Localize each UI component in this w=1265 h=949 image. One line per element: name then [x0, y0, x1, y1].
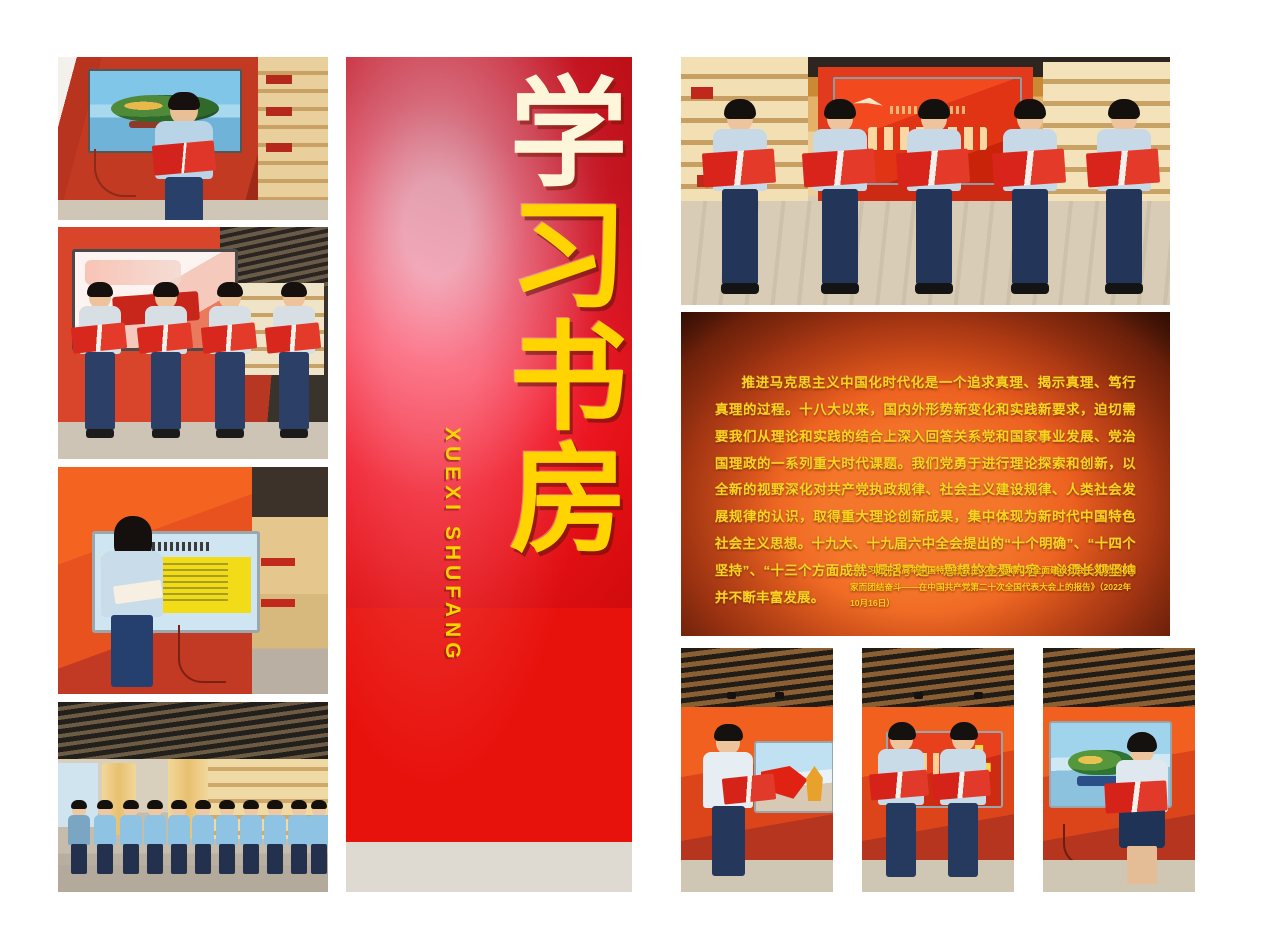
photo-bottom-landscape-screen [1043, 648, 1195, 892]
title-char-2: 习 [491, 193, 622, 315]
person-reader [270, 285, 318, 445]
red-booklet [702, 149, 776, 188]
ceiling-slats [681, 648, 833, 707]
ceiling-slats [1043, 648, 1195, 707]
person-reader [1093, 103, 1155, 299]
person-presenter [98, 521, 168, 691]
red-booklet [992, 149, 1066, 188]
person-reader [876, 726, 926, 882]
photo-left-reading-landscape [58, 57, 328, 220]
photo-bottom-two-readers [862, 648, 1014, 892]
person-reader [1113, 736, 1171, 886]
person-reader [142, 285, 190, 445]
center-title-panel: 学习书房 XUEXI SHUFANG [346, 57, 632, 892]
title-char-3: 书 [491, 315, 622, 437]
red-booklet [802, 149, 876, 188]
red-booklet [869, 770, 929, 801]
quote-panel: 推进马克思主义中国化时代化是一个追求真理、揭示真理、笃行真理的过程。十八大以来，… [681, 312, 1170, 636]
person-reader [153, 95, 215, 220]
person-reader [938, 726, 988, 882]
poster-title-cn: 学习书房 [466, 71, 616, 559]
power-cord [178, 625, 226, 683]
photo-bottom-flag-screen [681, 648, 833, 892]
ceiling-slats [58, 702, 328, 759]
red-booklet [152, 140, 216, 175]
poster-board: 学习书房 XUEXI SHUFANG 推进马克思主义中国化时代化是一个追求真理、… [0, 0, 1265, 949]
quote-attribution: ——习近平《高举中国特色社会主义伟大旗帜 为全面建设社会主义现代化国家而团结奋斗… [850, 562, 1136, 612]
ceiling-slats [862, 648, 1014, 707]
title-char-4: 房 [491, 437, 622, 559]
red-booklet [1104, 780, 1167, 813]
person-reader [701, 728, 757, 880]
person-reader [206, 285, 254, 445]
red-booklet [1086, 149, 1160, 188]
bookshelf [258, 57, 328, 220]
red-booklet [896, 149, 970, 188]
person-reader [709, 103, 771, 299]
person-reader [76, 285, 124, 445]
photo-left-seated-audience [58, 702, 328, 892]
person-reader [999, 103, 1061, 299]
pagoda-graphic [806, 766, 823, 802]
red-booklet [722, 773, 776, 804]
poster-title-pinyin: XUEXI SHUFANG [440, 427, 464, 664]
bookshelf-side [252, 467, 328, 694]
title-char-1: 学 [491, 71, 622, 193]
red-booklet [931, 770, 991, 801]
person-reader [809, 103, 871, 299]
photo-left-group-recital [58, 227, 328, 459]
photo-right-five-readers [681, 57, 1170, 305]
person-reader [903, 103, 965, 299]
photo-left-lecture-slide [58, 467, 328, 694]
